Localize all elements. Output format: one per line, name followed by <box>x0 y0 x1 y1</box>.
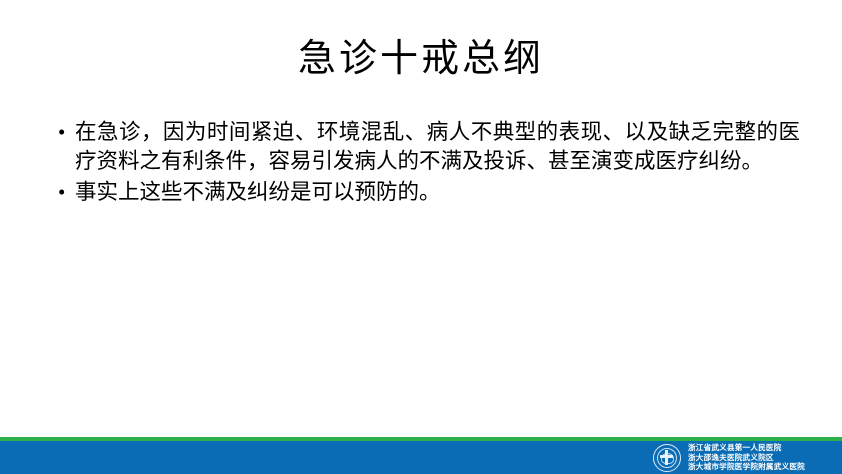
bullet-text: 事实上这些不满及纠纷是可以预防的。 <box>75 178 800 207</box>
body-content: • 在急诊，因为时间紧迫、环境混乱、病人不典型的表现、以及缺乏完整的医疗资料之有… <box>58 118 800 209</box>
bullet-marker-icon: • <box>58 178 75 207</box>
hospital-emblem-icon <box>652 443 682 473</box>
list-item: • 在急诊，因为时间紧迫、环境混乱、病人不典型的表现、以及缺乏完整的医疗资料之有… <box>58 118 800 176</box>
bullet-marker-icon: • <box>58 118 75 147</box>
organization-names: 浙江省武义县第一人民医院 浙大邵逸夫医院武义院区 浙大城市学院医学院附属武义医院 <box>688 443 842 471</box>
footer-branding: 浙江省武义县第一人民医院 浙大邵逸夫医院武义院区 浙大城市学院医学院附属武义医院 <box>652 441 842 474</box>
slide-canvas: 急诊十戒总纲 • 在急诊，因为时间紧迫、环境混乱、病人不典型的表现、以及缺乏完整… <box>0 0 842 474</box>
organization-name-line: 浙大邵逸夫医院武义院区 <box>688 453 842 462</box>
list-item: • 事实上这些不满及纠纷是可以预防的。 <box>58 178 800 207</box>
page-title: 急诊十戒总纲 <box>0 36 842 82</box>
bullet-text: 在急诊，因为时间紧迫、环境混乱、病人不典型的表现、以及缺乏完整的医疗资料之有利条… <box>75 118 800 176</box>
organization-name-line: 浙江省武义县第一人民医院 <box>688 443 842 452</box>
organization-name-line: 浙大城市学院医学院附属武义医院 <box>688 462 842 471</box>
